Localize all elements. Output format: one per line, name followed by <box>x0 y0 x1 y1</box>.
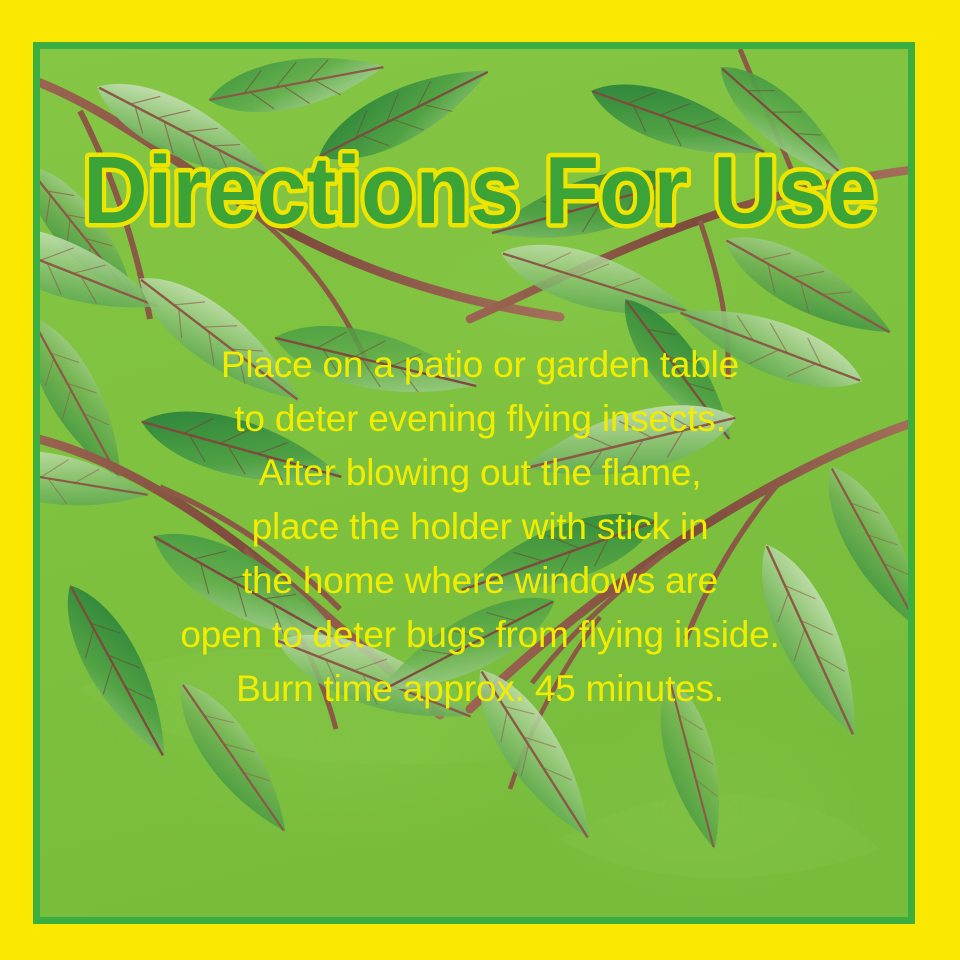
directions-body-text: Place on a patio or garden table to dete… <box>60 338 900 716</box>
body-line-6: open to deter bugs from flying inside. <box>60 608 900 662</box>
body-line-1: Place on a patio or garden table <box>60 338 900 392</box>
body-line-7: Burn time approx. 45 minutes. <box>60 662 900 716</box>
directions-for-use-poster: Directions For Use Place on a patio or g… <box>0 0 960 960</box>
body-line-5: the home where windows are <box>60 554 900 608</box>
body-line-3: After blowing out the flame, <box>60 446 900 500</box>
body-line-2: to deter evening flying insects. <box>60 392 900 446</box>
body-line-4: place the holder with stick in <box>60 500 900 554</box>
